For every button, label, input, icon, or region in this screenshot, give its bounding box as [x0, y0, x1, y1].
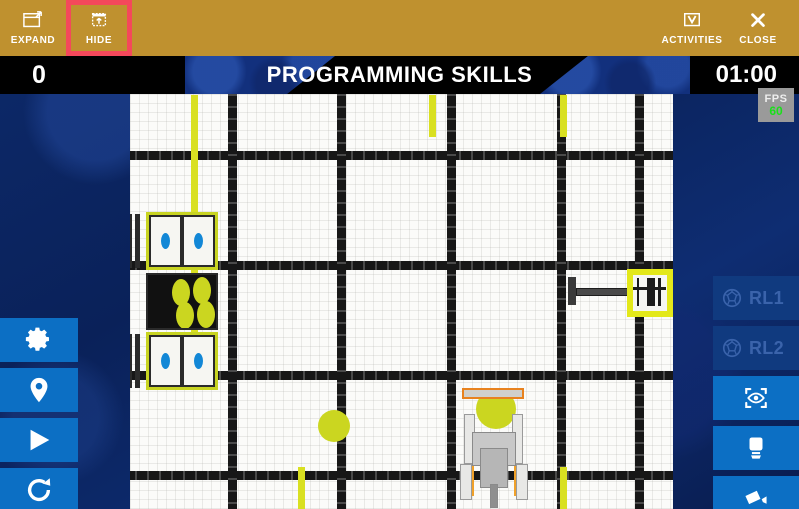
robot-intake-bar [462, 388, 524, 399]
field-grid-line [557, 93, 566, 509]
left-toolbar [0, 318, 78, 509]
camera-button[interactable] [713, 476, 799, 509]
loader-cell [184, 217, 213, 265]
activities-button[interactable]: ACTIVITIES [659, 0, 725, 56]
fps-indicator: FPS 60 [758, 88, 794, 122]
rack-ball [176, 302, 194, 329]
match-title-bar: 0 PROGRAMMING SKILLS 01:00 [0, 56, 799, 94]
robot-link-2-button[interactable]: RL2 [713, 326, 799, 370]
reset-refresh-icon [24, 475, 54, 505]
loader-cell [151, 217, 180, 265]
field-grid-line [130, 471, 673, 480]
location-button[interactable] [0, 368, 78, 412]
fps-value: 60 [769, 105, 782, 117]
loader-marker [194, 353, 203, 369]
page-title: PROGRAMMING SKILLS [0, 56, 799, 94]
expand-button[interactable]: EXPAND [0, 0, 66, 56]
loader-bottom[interactable] [146, 332, 218, 390]
robot-leg-left [460, 464, 472, 500]
eye-in-frame-icon [743, 385, 769, 411]
rack-ball [197, 301, 215, 328]
ball-icon [721, 287, 743, 309]
close-x-icon [747, 11, 769, 31]
right-toolbar: RL1 RL2 [713, 276, 799, 509]
monitor-icon [743, 435, 769, 461]
robot-core [480, 448, 508, 488]
loader-marker [161, 233, 170, 249]
hide-panel-icon [88, 11, 110, 31]
rack-ball [193, 277, 211, 304]
hide-button[interactable]: HIDE [66, 0, 132, 56]
loader-bottom-mount [130, 330, 145, 392]
reset-button[interactable] [0, 468, 78, 509]
loader-marker [194, 233, 203, 249]
fps-label: FPS [765, 94, 788, 105]
robot[interactable] [456, 388, 534, 508]
field-grid-line [447, 93, 456, 509]
goal-right[interactable] [627, 269, 673, 317]
field-grid-line [337, 93, 346, 509]
field-marker-line [560, 467, 567, 509]
field-grid-line [130, 151, 673, 160]
ball-icon [721, 337, 743, 359]
loader-top-mount [130, 210, 145, 272]
application-window: EXPAND HIDE ACTIVITIES [0, 0, 799, 509]
toolbar-left-group: EXPAND HIDE [0, 0, 132, 56]
gear-icon [24, 325, 54, 355]
video-camera-icon [743, 485, 769, 509]
play-button[interactable] [0, 418, 78, 462]
loader-marker [161, 353, 170, 369]
top-toolbar: EXPAND HIDE ACTIVITIES [0, 0, 799, 56]
game-field[interactable] [130, 93, 673, 509]
field-marker-line [560, 95, 567, 137]
robot-link-2-label: RL2 [749, 338, 784, 359]
loader-cell [151, 337, 180, 385]
close-button[interactable]: CLOSE [725, 0, 791, 56]
activities-button-label: ACTIVITIES [661, 36, 722, 46]
settings-button[interactable] [0, 318, 78, 362]
ball-left[interactable] [318, 410, 350, 442]
close-button-label: CLOSE [739, 36, 776, 46]
toolbar-right-group: ACTIVITIES CLOSE [659, 0, 799, 56]
checkbox-checked-icon [681, 11, 703, 31]
robot-link-1-button[interactable]: RL1 [713, 276, 799, 320]
expand-window-icon [22, 11, 44, 31]
monitor-button[interactable] [713, 426, 799, 470]
robot-link-1-label: RL1 [749, 288, 784, 309]
play-triangle-icon [24, 425, 54, 455]
robot-leg-right [516, 464, 528, 500]
field-marker-line [298, 467, 305, 509]
robot-tail [490, 484, 498, 508]
hide-button-label: HIDE [86, 36, 112, 46]
map-pin-icon [24, 375, 54, 405]
field-marker-line [429, 95, 436, 137]
expand-button-label: EXPAND [11, 36, 56, 46]
view-button[interactable] [713, 376, 799, 420]
ball-rack[interactable] [146, 273, 218, 330]
loader-cell [184, 337, 213, 385]
field-grid-line [228, 93, 237, 509]
loader-top[interactable] [146, 212, 218, 270]
